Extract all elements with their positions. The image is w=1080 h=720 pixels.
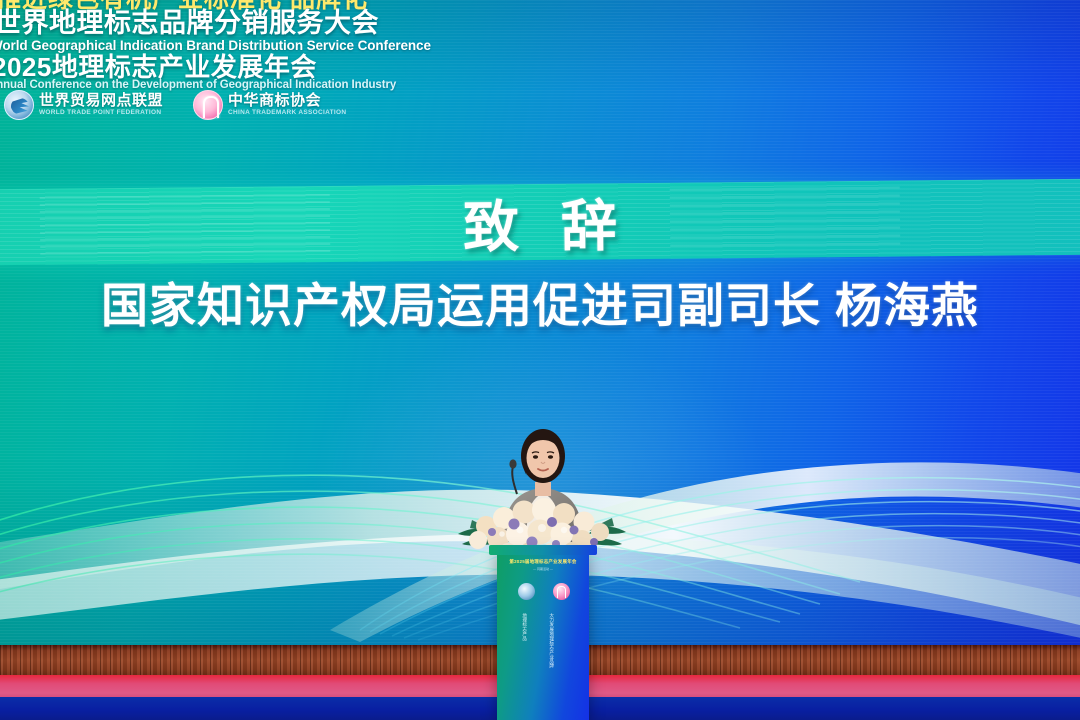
podium: 第2025届地理标志产业发展年会 — 同期活动 — 地理标志产品 大力发展地理标… bbox=[497, 551, 589, 720]
logo-world-trade-point-federation: 世界贸易网点联盟 WORLD TRADE POINT FEDERATION bbox=[4, 90, 163, 120]
conference-title-cn: 世界地理标志品牌分销服务大会 bbox=[0, 8, 464, 38]
annual-conference-title-cn: 2025地理标志产业发展年会 bbox=[0, 52, 462, 82]
microphone-head bbox=[509, 459, 516, 468]
header-branding-block: 推进绿色有机产业标准化 品牌化 世界地理标志品牌分销服务大会 World Geo… bbox=[0, 0, 452, 128]
podium-logo-row bbox=[509, 581, 579, 601]
speaker-face bbox=[527, 438, 560, 478]
globe-logo-icon bbox=[518, 583, 535, 600]
conference-stage-photo: 推进绿色有机产业标准化 品牌化 世界地理标志品牌分销服务大会 World Geo… bbox=[0, 0, 1080, 720]
globe-logo-icon bbox=[4, 90, 34, 120]
trademark-logo-icon bbox=[553, 583, 570, 600]
logo-name-en: WORLD TRADE POINT FEDERATION bbox=[39, 110, 163, 117]
logo-china-trademark-association: 中华商标协会 CHINA TRADEMARK ASSOCIATION bbox=[193, 90, 346, 120]
slide-title-band: 致辞 bbox=[0, 179, 1080, 266]
speaker-eye-right bbox=[548, 455, 553, 458]
podium-banner-text: 第2025届地理标志产业发展年会 bbox=[499, 557, 587, 566]
logo-name-en: CHINA TRADEMARK ASSOCIATION bbox=[228, 110, 346, 117]
trademark-logo-icon bbox=[193, 90, 223, 120]
speaker-eye-left bbox=[533, 455, 538, 458]
logo-name-cn: 中华商标协会 bbox=[228, 93, 346, 108]
slide-title: 致辞 bbox=[0, 179, 1080, 266]
podium-top-surface bbox=[489, 545, 597, 555]
podium-vertical-text-left: 地理标志产品 bbox=[522, 613, 528, 667]
podium-banner-subtext: — 同期活动 — bbox=[499, 566, 587, 572]
header-logo-row: 世界贸易网点联盟 WORLD TRADE POINT FEDERATION 中华… bbox=[4, 88, 344, 122]
logo-text-block: 世界贸易网点联盟 WORLD TRADE POINT FEDERATION bbox=[39, 93, 163, 117]
slide-subtitle: 国家知识产权局运用促进司副司长 杨海燕 bbox=[0, 268, 1080, 334]
podium-vertical-text-right: 大力发展地理标志产业品牌 bbox=[549, 613, 555, 717]
logo-text-block: 中华商标协会 CHINA TRADEMARK ASSOCIATION bbox=[228, 93, 346, 117]
conference-title-en: World Geographical Indication Brand Dist… bbox=[0, 38, 470, 53]
logo-name-cn: 世界贸易网点联盟 bbox=[39, 93, 163, 108]
